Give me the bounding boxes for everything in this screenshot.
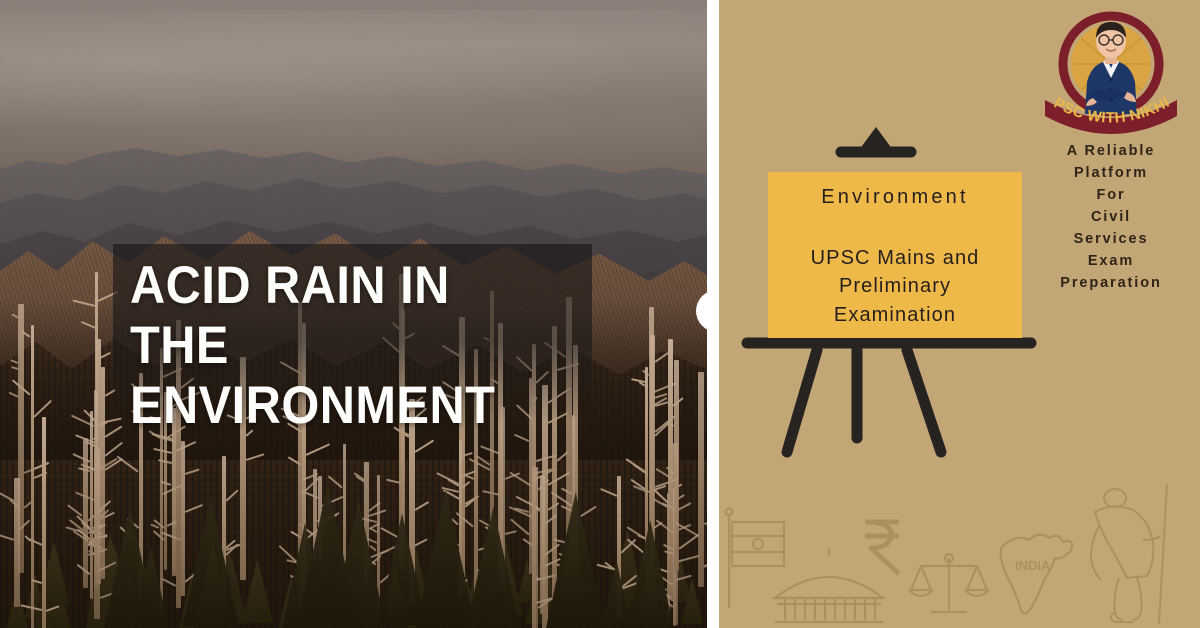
dead-tree-branch [523,538,533,546]
dead-tree-trunk [94,390,98,587]
hero-photo: ACID RAIN IN THE ENVIRONMENT [0,0,713,628]
conifer-tree-foreground [415,489,476,628]
india-map-icon: INDIA [1001,534,1073,613]
dead-tree-branch [306,443,330,456]
dead-tree-branch [0,487,15,502]
tagline-line-0: A Reliable [1041,140,1181,162]
tagline-block: A Reliable Platform For Civil Services E… [1041,140,1181,294]
dead-tree-branch [600,488,617,497]
easel-leg-right [907,350,941,452]
india-map-label: INDIA [1015,558,1051,573]
dead-tree-trunk [31,325,34,628]
info-panel: Environment UPSC Mains and Preliminary E… [719,0,1200,628]
dead-tree-branch [33,400,51,418]
tagline-line-2: For [1041,184,1181,206]
gandhi-figure-icon [1091,484,1167,624]
scales-of-justice-icon [909,554,989,612]
watermark-svg: INDIA [719,478,1200,628]
dead-tree-branch [11,366,18,370]
tagline-line-1: Platform [1041,162,1181,184]
tagline-line-6: Preparation [1041,272,1181,294]
dead-tree-branch [414,501,429,511]
dead-tree-branch [328,476,343,489]
board-subtitle-line-1: UPSC Mains and [768,244,1022,272]
indian-flag-icon [726,509,784,608]
board-subtitle-line-3: Examination [768,301,1022,329]
dead-tree-trunk [42,417,47,628]
dead-tree-trunk [90,411,93,599]
dead-tree-branch [505,530,517,535]
dead-tree-branch [161,578,177,588]
dead-tree-branch [463,474,474,480]
board-subtitle: UPSC Mains and Preliminary Examination [768,244,1022,329]
dead-tree-trunk [698,372,704,587]
dead-tree-branch [676,554,701,562]
dead-tree-trunk [181,441,185,596]
dead-tree-trunk [101,367,104,579]
title-line-1: ACID RAIN IN THE [130,256,562,376]
dead-tree-branch [68,504,84,517]
easel-top-peak [859,127,893,150]
dead-tree-branch [370,528,378,534]
board-title: Environment [768,186,1022,209]
tagline-line-4: Services [1041,228,1181,250]
dead-tree-branch [225,490,238,502]
board-subtitle-line-2: Preliminary [768,272,1022,300]
dead-tree-branch [0,534,15,541]
title-line-2: ENVIRONMENT [130,376,562,436]
dead-tree-branch [104,425,122,437]
dead-tree-branch [9,391,19,397]
dead-tree-branch [185,468,200,474]
dead-tree-branch [654,352,669,363]
dead-tree-branch [245,453,264,461]
page-title: ACID RAIN IN THE ENVIRONMENT [130,256,562,436]
dead-tree-branch [185,503,203,512]
easel-leg-left [787,350,817,452]
dead-tree-branch [117,456,139,473]
chalkboard-card: Environment UPSC Mains and Preliminary E… [768,172,1022,338]
dead-tree-trunk [674,360,679,571]
watermark-strip: INDIA [719,478,1200,628]
dead-tree-branch [370,544,378,551]
rupee-symbol-icon [865,522,899,574]
dead-tree-trunk [540,476,546,615]
upsc-with-nikhil-logo: UPSC WITH NIKHIL [1041,8,1181,136]
logo-svg: UPSC WITH NIKHIL [1041,8,1181,136]
dead-tree-branch [436,472,459,485]
poster-canvas: ACID RAIN IN THE ENVIRONMENT [0,0,1200,628]
tagline-line-5: Exam [1041,250,1181,272]
conifer-tree [242,558,273,623]
dead-tree-branch [104,442,122,457]
dead-tree-branch [414,439,434,453]
tagline-line-3: Civil [1041,206,1181,228]
dead-tree-branch [11,360,19,365]
parliament-building-icon [773,548,885,622]
dead-tree-trunk [14,478,20,607]
